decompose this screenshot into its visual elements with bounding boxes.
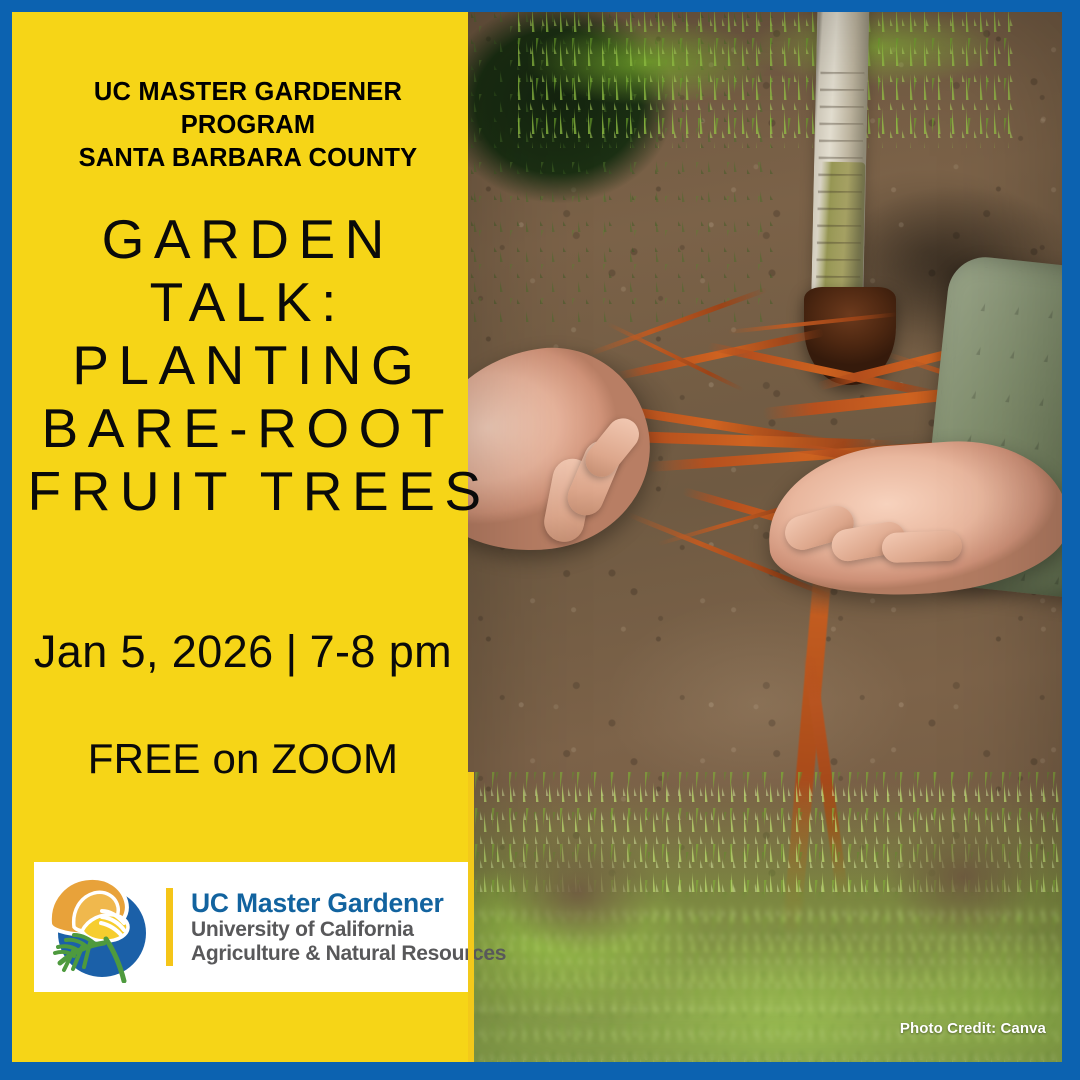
info-panel: UC MASTER GARDENER PROGRAM SANTA BARBARA… — [12, 12, 468, 1062]
photo-credit-label: Photo Credit: Canva — [900, 1020, 1046, 1037]
poppy-logo-icon — [44, 871, 154, 983]
program-name-line2: SANTA BARBARA COUNTY — [28, 142, 468, 175]
event-title-line-4: BARE-ROOT — [18, 397, 468, 460]
logo-divider-bar — [166, 888, 173, 966]
program-eyebrow: UC MASTER GARDENER PROGRAM SANTA BARBARA… — [28, 76, 468, 175]
logo-subtitle-1: University of California — [191, 918, 506, 943]
datetime-separator: | — [274, 625, 310, 679]
event-title-line-1: GARDEN — [18, 208, 468, 271]
event-datetime: Jan 5, 2026|7-8 pm — [18, 625, 468, 679]
event-title: GARDEN TALK: PLANTING BARE-ROOT FRUIT TR… — [18, 208, 468, 523]
logo-wordmark: UC Master Gardener University of Califor… — [191, 888, 506, 967]
logo-title: UC Master Gardener — [191, 888, 506, 918]
event-title-line-3: PLANTING — [18, 334, 468, 397]
photo-vignette — [468, 12, 1062, 1062]
event-date: Jan 5, 2026 — [34, 626, 274, 677]
event-title-line-2: TALK: — [18, 271, 468, 334]
event-time: 7-8 pm — [310, 626, 452, 677]
event-cost: FREE on ZOOM — [18, 734, 468, 784]
flyer-inner-frame: Photo Credit: Canva UC MASTER GARDENER P… — [12, 12, 1062, 1062]
logo-subtitle-2: Agriculture & Natural Resources — [191, 942, 506, 967]
flyer-canvas: Photo Credit: Canva UC MASTER GARDENER P… — [0, 0, 1080, 1080]
program-name-line1: UC MASTER GARDENER PROGRAM — [28, 76, 468, 142]
uc-anr-logo-card: UC Master Gardener University of Califor… — [34, 862, 470, 992]
photo-edge-sliver — [468, 772, 474, 1062]
event-photo: Photo Credit: Canva — [468, 12, 1062, 1062]
event-title-line-5: FRUIT TREES — [18, 460, 468, 523]
